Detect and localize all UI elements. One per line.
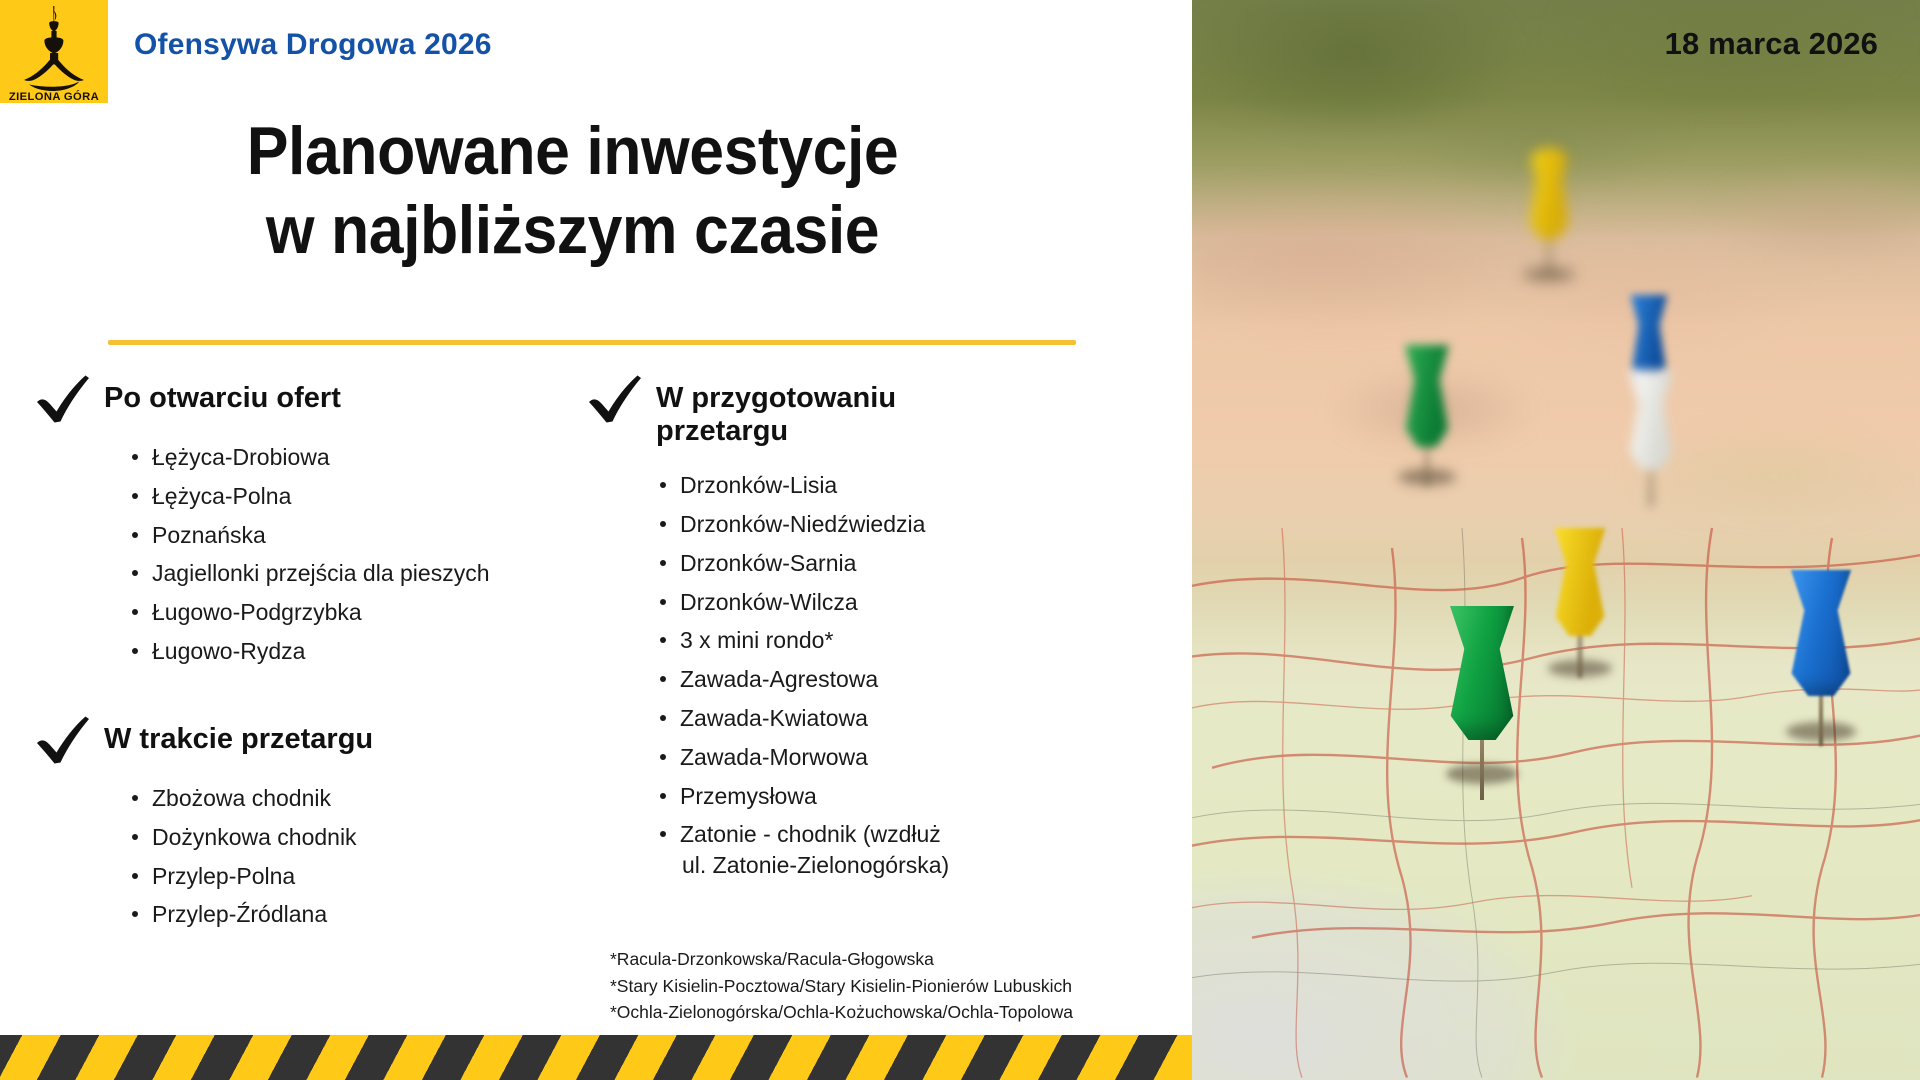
footnote-line: *Stary Kisielin-Pocztowa/Stary Kisielin-… <box>610 973 1190 1000</box>
list-item: Jagiellonki przejścia dla pieszych <box>128 558 594 589</box>
list-item: Ługowo-Podgrzybka <box>128 597 594 628</box>
list-item: Dożynkowa chodnik <box>128 822 594 853</box>
list-item: Zawada-Kwiatowa <box>656 703 986 734</box>
list-item: Zawada-Agrestowa <box>656 664 986 695</box>
list-item: Zbożowa chodnik <box>128 783 594 814</box>
page-title: Planowane inwestycje w najbliższym czasi… <box>0 112 1145 270</box>
footnotes: *Racula-Drzonkowska/Racula-Głogowska *St… <box>610 946 1190 1026</box>
checkmark-icon <box>586 372 644 426</box>
checkmark-icon <box>34 372 92 426</box>
footnote-line: *Racula-Drzonkowska/Racula-Głogowska <box>610 946 1190 973</box>
section-title: W trakcie przetargu <box>104 717 373 756</box>
pushpin-green-far <box>1397 345 1457 485</box>
pushpin-blue-mid <box>1782 570 1860 748</box>
section-w-trakcie-przetargu: W trakcie przetargu Zbożowa chodnik Doży… <box>34 717 594 930</box>
section-header: Po otwarciu ofert <box>34 376 594 426</box>
list-item: Poznańska <box>128 520 594 551</box>
checkmark-icon <box>34 713 92 767</box>
list-item: Ługowo-Rydza <box>128 636 594 667</box>
list-item: Przylep-Źródlana <box>128 899 594 930</box>
zielona-gora-logo: ZIELONA GÓRA <box>0 0 108 103</box>
section-title: Po otwarciu ofert <box>104 376 341 415</box>
list-item: Drzonków-Niedźwiedzia <box>656 509 986 540</box>
footnote-line: *Ochla-Zielonogórska/Ochla-Kożuchowska/O… <box>610 999 1190 1026</box>
pushpin-white-far <box>1620 370 1682 505</box>
list-item: Łężyca-Polna <box>128 481 594 512</box>
column-left: Po otwarciu ofert Łężyca-Drobiowa Łężyca… <box>34 376 594 938</box>
list-item-text: Zatonie - chodnik (wzdłuż <box>680 821 941 847</box>
title-line-2: w najbliższym czasie <box>46 191 1099 270</box>
pushpin-yellow-mid <box>1547 528 1613 678</box>
bullet-list: Łężyca-Drobiowa Łężyca-Polna Poznańska J… <box>34 442 594 667</box>
list-item: Zatonie - chodnik (wzdłuż ul. Zatonie-Zi… <box>656 819 986 881</box>
list-item: Drzonków-Lisia <box>656 470 986 501</box>
pushpin-yellow-far <box>1520 148 1578 278</box>
campaign-label: Ofensywa Drogowa 2026 <box>134 28 492 62</box>
list-item: Drzonków-Sarnia <box>656 548 986 579</box>
list-item: Zawada-Morwowa <box>656 742 986 773</box>
svg-text:ZIELONA GÓRA: ZIELONA GÓRA <box>9 90 99 103</box>
section-po-otwarciu-ofert: Po otwarciu ofert Łężyca-Drobiowa Łężyca… <box>34 376 594 667</box>
hazard-stripe-footer <box>0 1035 1192 1080</box>
date-label: 18 marca 2026 <box>1665 26 1878 62</box>
section-title: W przygotowaniu przetargu <box>656 376 956 448</box>
title-line-1: Planowane inwestycje <box>46 112 1099 191</box>
list-item: Przylep-Polna <box>128 861 594 892</box>
section-header: W przygotowaniu przetargu <box>586 376 986 448</box>
list-item: 3 x mini rondo* <box>656 625 986 656</box>
bullet-list: Drzonków-Lisia Drzonków-Niedźwiedzia Drz… <box>586 470 986 881</box>
map-photo <box>1192 0 1920 1080</box>
list-item: Drzonków-Wilcza <box>656 587 986 618</box>
list-item: Łężyca-Drobiowa <box>128 442 594 473</box>
pushpin-green-sharp <box>1440 606 1524 802</box>
list-item-continuation: ul. Zatonie-Zielonogórska) <box>680 850 986 881</box>
section-header: W trakcie przetargu <box>34 717 594 767</box>
column-right: W przygotowaniu przetargu Drzonków-Lisia… <box>586 376 986 889</box>
poster-canvas: 18 marca 2026 ZIELONA GÓRA <box>0 0 1920 1080</box>
section-w-przygotowaniu-przetargu: W przygotowaniu przetargu Drzonków-Lisia… <box>586 376 986 881</box>
bullet-list: Zbożowa chodnik Dożynkowa chodnik Przyle… <box>34 783 594 930</box>
list-item: Przemysłowa <box>656 781 986 812</box>
title-divider <box>108 340 1076 345</box>
